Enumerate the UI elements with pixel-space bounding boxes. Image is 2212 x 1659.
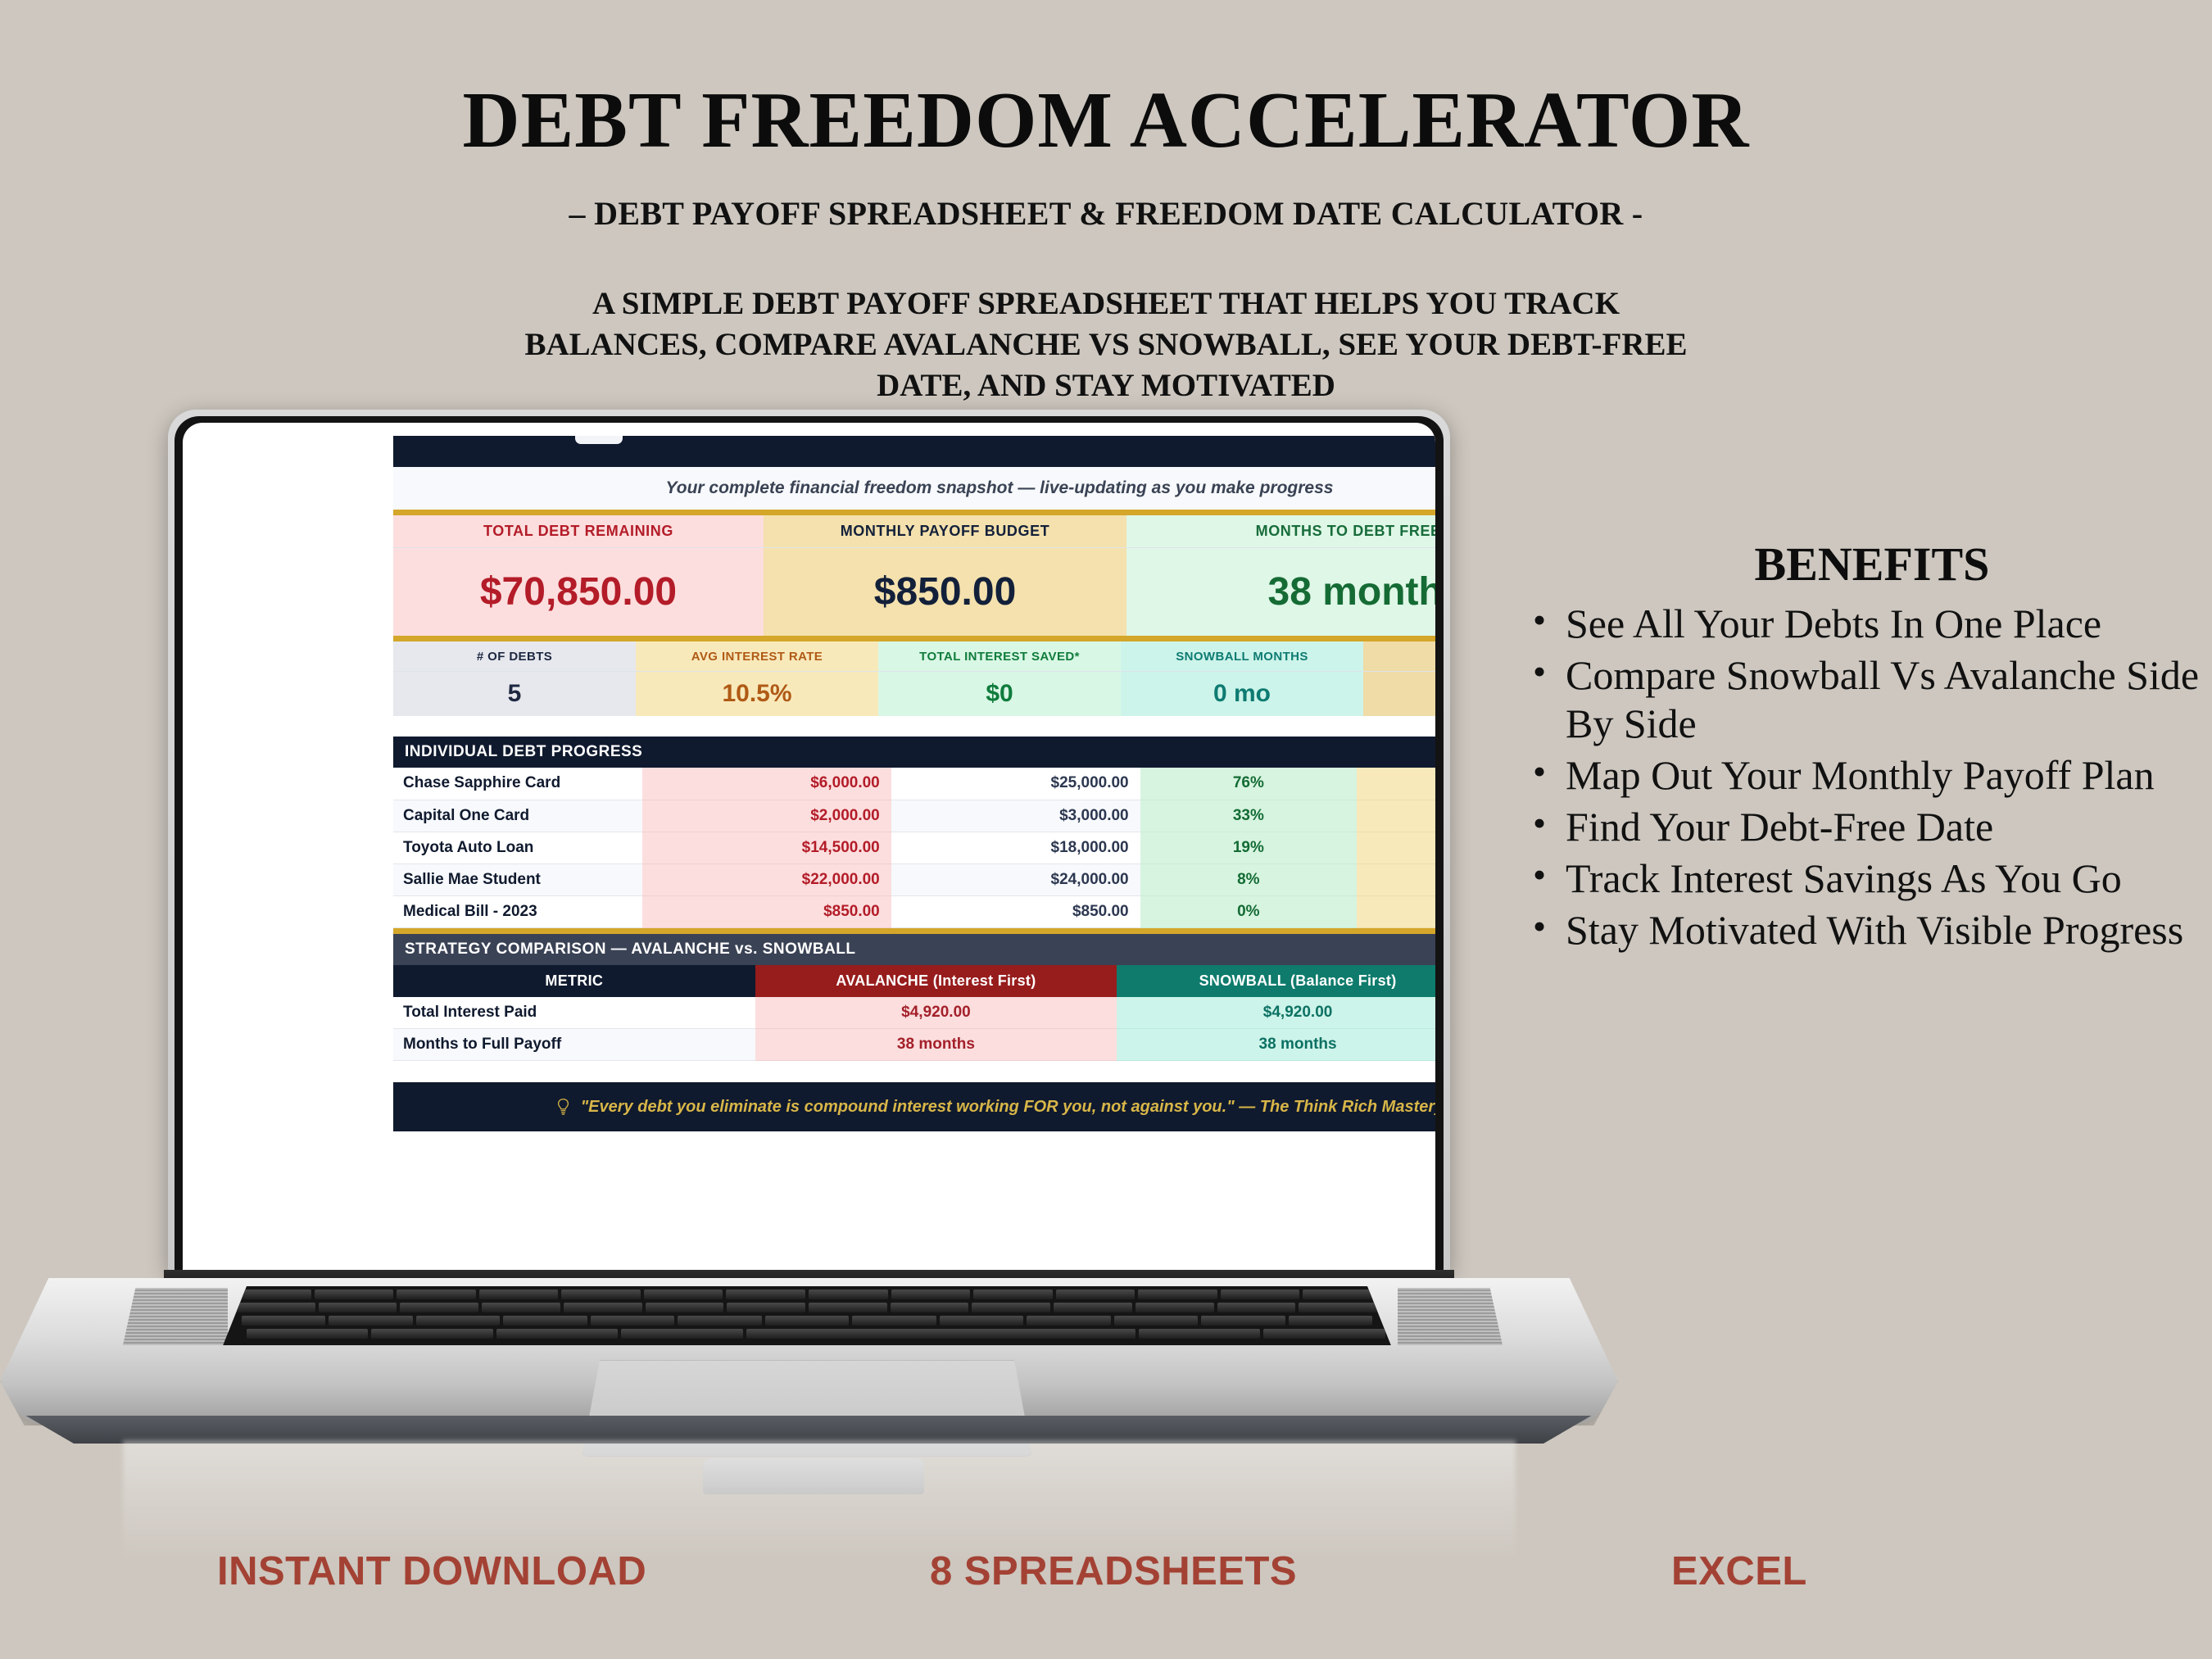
keyboard-key bbox=[564, 1303, 642, 1312]
debt-progress-table: Chase Sapphire Card $6,000.00 $25,000.00… bbox=[393, 768, 1435, 928]
keyboard-key bbox=[591, 1316, 674, 1326]
keyboard-key bbox=[972, 1303, 1050, 1312]
key-row bbox=[217, 1329, 1397, 1339]
kpi-label: MONTHS TO DEBT FREEDOM bbox=[1126, 515, 1435, 547]
description-line-1: A SIMPLE DEBT PAYOFF SPREADSHEET THAT HE… bbox=[0, 283, 2212, 324]
debt-progress: 19% bbox=[1140, 832, 1357, 863]
keyboard-key bbox=[1289, 1316, 1372, 1326]
keyboard-key bbox=[646, 1303, 724, 1312]
page-subtitle: – DEBT PAYOFF SPREADSHEET & FREEDOM DATE… bbox=[0, 194, 2212, 233]
poster-canvas: DEBT FREEDOM ACCELERATOR – DEBT PAYOFF S… bbox=[0, 0, 2212, 1659]
app-topbar bbox=[393, 436, 1435, 467]
keyboard-key bbox=[371, 1329, 492, 1339]
keyboard-key bbox=[482, 1303, 560, 1312]
speaker-grille-right bbox=[1398, 1288, 1503, 1345]
stat-extra-per-month: EXTRA/MONTH -$1,319 bbox=[1363, 641, 1435, 716]
laptop-mockup: Your complete financial freedom snapshot… bbox=[0, 410, 1639, 1491]
debt-progress: 0% bbox=[1140, 895, 1357, 927]
keyboard-key bbox=[1217, 1303, 1296, 1312]
kpi-total-debt-remaining: TOTAL DEBT REMAINING $70,850.00 bbox=[393, 515, 764, 636]
gold-divider-top bbox=[393, 510, 1435, 515]
debt-progress: 76% bbox=[1140, 768, 1357, 800]
debt-name: Toyota Auto Loan bbox=[393, 832, 642, 863]
keyboard-key bbox=[496, 1329, 618, 1339]
debt-name: Medical Bill - 2023 bbox=[393, 895, 642, 927]
kpi-value: $70,850.00 bbox=[393, 547, 764, 636]
stat-label: AVG INTEREST RATE bbox=[636, 641, 878, 671]
page-description: A SIMPLE DEBT PAYOFF SPREADSHEET THAT HE… bbox=[0, 283, 2212, 406]
gold-divider-mid bbox=[393, 636, 1435, 641]
stat-value: 0 mo bbox=[1121, 671, 1363, 716]
stat-avg-interest-rate: AVG INTEREST RATE 10.5% bbox=[636, 641, 878, 716]
list-item: Compare Snowball Vs Avalanche Side By Si… bbox=[1520, 651, 2212, 748]
benefits-list: See All Your Debts In One Place Compare … bbox=[1520, 600, 2212, 954]
debt-balance: $22,000.00 bbox=[642, 863, 891, 895]
debt-apr: 5.50% bbox=[1357, 863, 1435, 895]
keyboard-key bbox=[726, 1290, 805, 1299]
laptop-screen: Your complete financial freedom snapshot… bbox=[393, 436, 1435, 1243]
kpi-monthly-payoff-budget: MONTHLY PAYOFF BUDGET $850.00 bbox=[764, 515, 1126, 636]
keyboard-key bbox=[746, 1329, 1135, 1339]
stat-value: -$1,319 bbox=[1363, 671, 1435, 716]
debt-name: Capital One Card bbox=[393, 800, 642, 832]
kpi-label: MONTHLY PAYOFF BUDGET bbox=[764, 515, 1126, 547]
section-gap bbox=[393, 716, 1435, 737]
stat-number-of-debts: # OF DEBTS 5 bbox=[393, 641, 636, 716]
list-item: Find Your Debt-Free Date bbox=[1520, 803, 2212, 851]
debt-name: Sallie Mae Student bbox=[393, 863, 642, 895]
strategy-metric: Months to Full Payoff bbox=[393, 1029, 755, 1061]
keyboard-key bbox=[809, 1303, 887, 1312]
list-item: Map Out Your Monthly Payoff Plan bbox=[1520, 751, 2212, 800]
strategy-metric: Total Interest Paid bbox=[393, 997, 755, 1029]
debt-original: $25,000.00 bbox=[891, 768, 1140, 800]
lightbulb-icon bbox=[555, 1098, 571, 1116]
keyboard-key bbox=[1056, 1290, 1135, 1299]
debt-apr: 6.89% bbox=[1357, 832, 1435, 863]
section-header-strategy-comparison: STRATEGY COMPARISON — AVALANCHE vs. SNOW… bbox=[393, 934, 1435, 965]
footer-spreadsheet-count: 8 SPREADSHEETS bbox=[930, 1548, 1297, 1594]
stat-value: $0 bbox=[878, 671, 1121, 716]
keyboard-key bbox=[503, 1316, 587, 1326]
debt-balance: $850.00 bbox=[642, 895, 891, 927]
stat-label: # OF DEBTS bbox=[393, 641, 636, 671]
footer-format: EXCEL bbox=[1671, 1548, 1807, 1594]
keyboard-key bbox=[644, 1290, 723, 1299]
laptop-reflection bbox=[123, 1440, 1516, 1563]
debt-apr: 8.00% bbox=[1357, 768, 1435, 800]
debt-balance: $14,500.00 bbox=[642, 832, 891, 863]
kpi-value: $850.00 bbox=[764, 547, 1126, 636]
debt-original: $3,000.00 bbox=[891, 800, 1140, 832]
table-header-row: METRIC AVALANCHE (Interest First) SNOWBA… bbox=[393, 965, 1435, 997]
table-row[interactable]: Chase Sapphire Card $6,000.00 $25,000.00… bbox=[393, 768, 1435, 800]
debt-apr: 15.00% bbox=[1357, 800, 1435, 832]
keyboard-key bbox=[561, 1290, 641, 1299]
keyboard-key bbox=[1201, 1316, 1285, 1326]
gold-divider-bottom bbox=[393, 928, 1435, 934]
speaker-grille-left bbox=[123, 1288, 228, 1345]
page-title: DEBT FREEDOM ACCELERATOR bbox=[0, 80, 2212, 160]
keyboard-key bbox=[1114, 1316, 1198, 1326]
keyboard-key bbox=[678, 1316, 761, 1326]
keyboard-key bbox=[1263, 1329, 1385, 1339]
keyboard-key bbox=[765, 1316, 849, 1326]
laptop-base-edge bbox=[10, 1416, 1607, 1444]
keyboard-key bbox=[242, 1316, 325, 1326]
strategy-comparison-table: METRIC AVALANCHE (Interest First) SNOWBA… bbox=[393, 965, 1435, 1062]
keyboard-key bbox=[891, 1303, 969, 1312]
keyboard-key bbox=[1299, 1303, 1377, 1312]
dashboard-tagline: Your complete financial freedom snapshot… bbox=[393, 467, 1435, 510]
strategy-avalanche-value: $4,920.00 bbox=[755, 997, 1117, 1029]
table-row[interactable]: Capital One Card $2,000.00 $3,000.00 33%… bbox=[393, 800, 1435, 832]
benefits-panel: BENEFITS See All Your Debts In One Place… bbox=[1520, 537, 2212, 958]
keyboard-key bbox=[329, 1316, 412, 1326]
keyboard-key bbox=[479, 1290, 559, 1299]
list-item: Track Interest Savings As You Go bbox=[1520, 854, 2212, 903]
keyboard-key bbox=[416, 1316, 500, 1326]
kpi-value: 38 months bbox=[1126, 547, 1435, 636]
table-row[interactable]: Toyota Auto Loan $14,500.00 $18,000.00 1… bbox=[393, 832, 1435, 863]
strategy-snowball-value: $4,920.00 bbox=[1117, 997, 1435, 1029]
keyboard-key bbox=[727, 1303, 805, 1312]
debt-progress: 8% bbox=[1140, 863, 1357, 895]
keyboard-key bbox=[397, 1290, 476, 1299]
mini-stats-row: # OF DEBTS 5 AVG INTEREST RATE 10.5% TOT… bbox=[393, 641, 1435, 716]
column-header-metric: METRIC bbox=[393, 965, 755, 997]
laptop-keyboard[interactable] bbox=[217, 1286, 1397, 1345]
debt-name: Chase Sapphire Card bbox=[393, 768, 642, 800]
debt-original: $18,000.00 bbox=[891, 832, 1140, 863]
keyboard-key bbox=[1139, 1329, 1260, 1339]
kpi-row: TOTAL DEBT REMAINING $70,850.00 MONTHLY … bbox=[393, 515, 1435, 636]
stat-total-interest-saved: TOTAL INTEREST SAVED* $0 bbox=[878, 641, 1121, 716]
debt-balance: $2,000.00 bbox=[642, 800, 891, 832]
poster-header: DEBT FREEDOM ACCELERATOR – DEBT PAYOFF S… bbox=[0, 0, 2212, 406]
topbar-tab-nub[interactable] bbox=[575, 436, 623, 444]
kpi-months-to-debt-freedom: MONTHS TO DEBT FREEDOM 38 months bbox=[1126, 515, 1435, 636]
section-header-individual-debt-progress: INDIVIDUAL DEBT PROGRESS bbox=[393, 737, 1435, 768]
keyboard-key bbox=[237, 1303, 315, 1312]
debt-apr: 17.00% bbox=[1357, 895, 1435, 927]
list-item: See All Your Debts In One Place bbox=[1520, 600, 2212, 648]
keyboard-key bbox=[1054, 1303, 1132, 1312]
table-row[interactable]: Total Interest Paid $4,920.00 $4,920.00 … bbox=[393, 997, 1435, 1029]
debt-progress: 33% bbox=[1140, 800, 1357, 832]
table-row[interactable]: Sallie Mae Student $22,000.00 $24,000.00… bbox=[393, 863, 1435, 895]
description-line-2: BALANCES, COMPARE AVALANCHE VS SNOWBALL,… bbox=[0, 324, 2212, 365]
motivational-quote-bar: "Every debt you eliminate is compound in… bbox=[393, 1082, 1435, 1131]
keyboard-key bbox=[1027, 1316, 1110, 1326]
stat-label: SNOWBALL MONTHS bbox=[1121, 641, 1363, 671]
keyboard-key bbox=[621, 1329, 742, 1339]
keyboard-key bbox=[809, 1290, 888, 1299]
keyboard-key bbox=[1135, 1303, 1214, 1312]
list-item: Stay Motivated With Visible Progress bbox=[1520, 906, 2212, 954]
description-line-3: DATE, AND STAY MOTIVATED bbox=[0, 365, 2212, 406]
benefits-title: BENEFITS bbox=[1520, 537, 2212, 592]
kpi-label: TOTAL DEBT REMAINING bbox=[393, 515, 764, 547]
keyboard-key bbox=[247, 1329, 368, 1339]
table-row[interactable]: Medical Bill - 2023 $850.00 $850.00 0% 1… bbox=[393, 895, 1435, 927]
strategy-snowball-value: 38 months bbox=[1117, 1029, 1435, 1061]
keyboard-key bbox=[1221, 1290, 1300, 1299]
keyboard-key bbox=[852, 1316, 936, 1326]
stat-value: 10.5% bbox=[636, 671, 878, 716]
debt-balance: $6,000.00 bbox=[642, 768, 891, 800]
keyboard-key bbox=[315, 1290, 394, 1299]
keyboard-key bbox=[940, 1316, 1023, 1326]
keyboard-key bbox=[400, 1303, 478, 1312]
keyboard-key bbox=[319, 1303, 397, 1312]
debt-original: $850.00 bbox=[891, 895, 1140, 927]
stat-label: EXTRA/MONTH bbox=[1363, 641, 1435, 671]
strategy-avalanche-value: 38 months bbox=[755, 1029, 1117, 1061]
key-row bbox=[217, 1316, 1397, 1326]
laptop-screen-inner: Your complete financial freedom snapshot… bbox=[183, 423, 1435, 1274]
section-gap-2 bbox=[393, 1061, 1435, 1082]
stat-label: TOTAL INTEREST SAVED* bbox=[878, 641, 1121, 671]
key-row bbox=[217, 1290, 1397, 1300]
keyboard-key bbox=[1138, 1290, 1217, 1299]
quote-text: "Every debt you eliminate is compound in… bbox=[581, 1098, 1435, 1117]
spreadsheet-app: Your complete financial freedom snapshot… bbox=[393, 436, 1435, 1131]
debt-original: $24,000.00 bbox=[891, 863, 1140, 895]
column-header-avalanche: AVALANCHE (Interest First) bbox=[755, 965, 1117, 997]
key-row bbox=[217, 1303, 1397, 1313]
keyboard-key bbox=[891, 1290, 971, 1299]
footer-instant-download: INSTANT DOWNLOAD bbox=[217, 1548, 646, 1594]
stat-snowball-months: SNOWBALL MONTHS 0 mo bbox=[1121, 641, 1363, 716]
column-header-snowball: SNOWBALL (Balance First) bbox=[1117, 965, 1435, 997]
table-row[interactable]: Months to Full Payoff 38 months 38 month… bbox=[393, 1029, 1435, 1061]
keyboard-key bbox=[973, 1290, 1053, 1299]
stat-value: 5 bbox=[393, 671, 636, 716]
